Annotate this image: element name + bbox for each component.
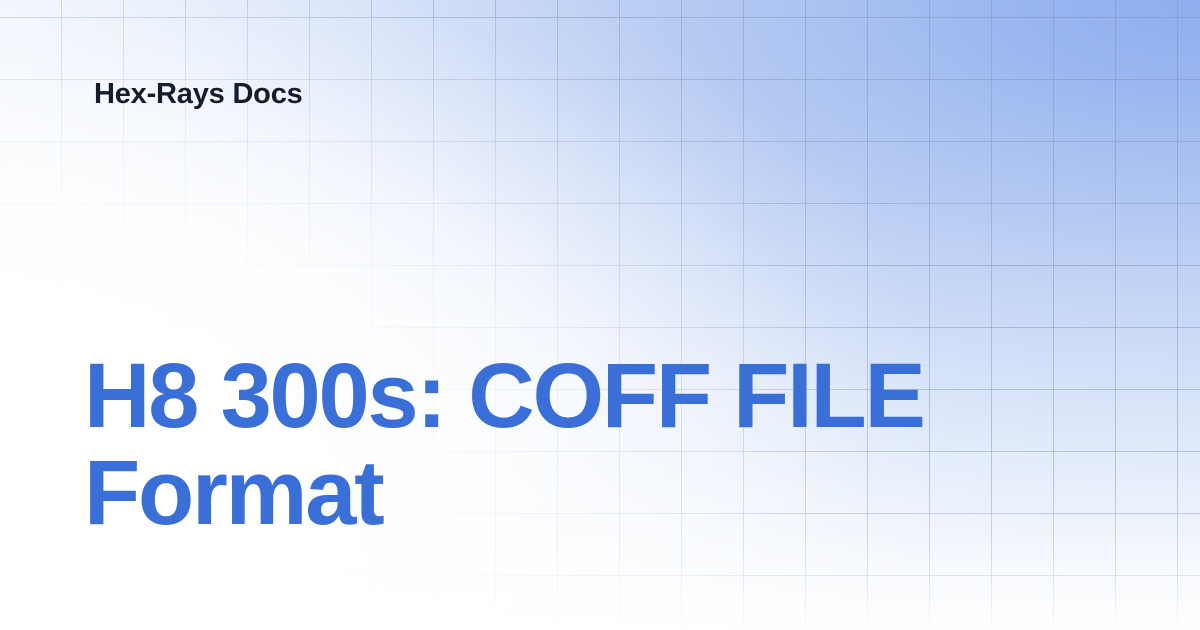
page-title: H8 300s: COFF FILE Format: [84, 348, 1024, 542]
card-content: Hex-Rays Docs H8 300s: COFF FILE Format: [0, 0, 1200, 630]
brand-label: Hex-Rays Docs: [94, 80, 303, 109]
og-card: Hex-Rays Docs H8 300s: COFF FILE Format: [0, 0, 1200, 630]
